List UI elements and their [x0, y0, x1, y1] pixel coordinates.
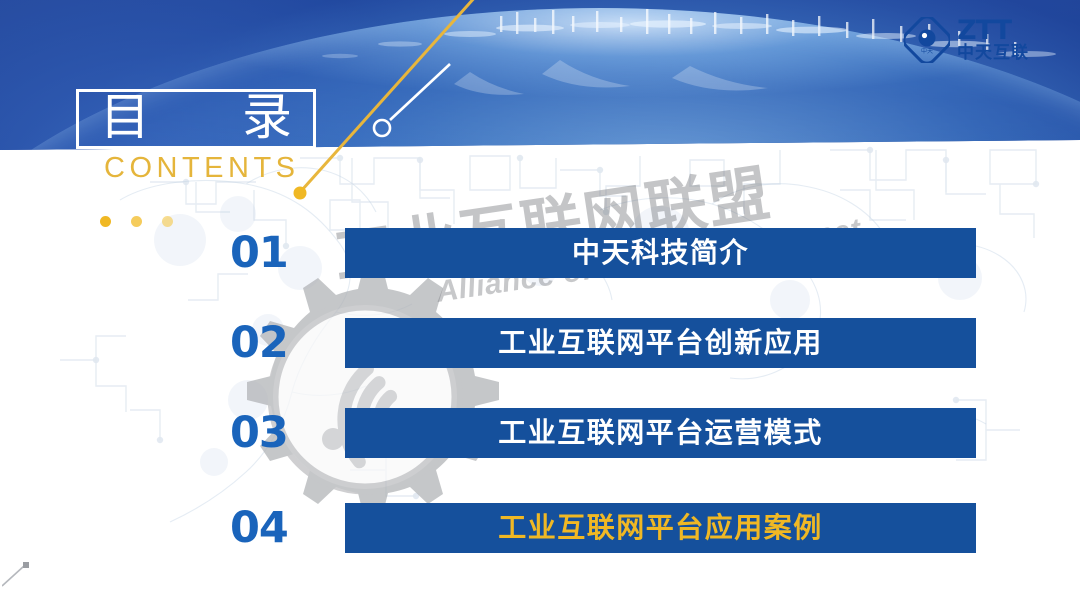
toc-item-03[interactable]: 03 工业互联网平台运营模式: [228, 408, 976, 458]
toc-label-01: 中天科技简介: [572, 239, 749, 267]
presentation-slide: 目 录 CONTENTS 工业互联网联盟: [0, 0, 1080, 608]
toc-item-02[interactable]: 02 工业互联网平台创新应用: [228, 318, 976, 368]
dot-2-icon: [131, 216, 142, 227]
toc-bar-04[interactable]: 工业互联网平台应用案例: [345, 503, 976, 553]
toc-number-02: 02: [228, 322, 345, 365]
toc-bar-03[interactable]: 工业互联网平台运营模式: [345, 408, 976, 458]
ztt-diamond-logo-icon: 中天: [904, 17, 950, 63]
ztt-logo: 中天 ZTT 中天互联: [904, 14, 1058, 66]
toc-label-02: 工业互联网平台创新应用: [498, 329, 823, 357]
toc-label-03: 工业互联网平台运营模式: [498, 419, 823, 447]
svg-text:中天: 中天: [921, 47, 933, 55]
toc-bar-01[interactable]: 中天科技简介: [345, 228, 976, 278]
ztt-logo-cn: 中天互联: [957, 45, 1029, 62]
toc-bar-02[interactable]: 工业互联网平台创新应用: [345, 318, 976, 368]
toc-number-03: 03: [228, 412, 345, 455]
toc-item-01[interactable]: 01 中天科技简介: [228, 228, 976, 278]
corner-marker-icon: [2, 556, 36, 590]
toc-number-04: 04: [228, 507, 345, 550]
ztt-logo-en: ZTT: [957, 18, 1029, 44]
white-pointer-line: [360, 58, 460, 148]
gear-wifi-emblem-icon: [215, 247, 515, 547]
decor-dots: [100, 216, 173, 227]
ztt-logo-text: ZTT 中天互联: [957, 18, 1029, 62]
page-title-char-1: 目: [100, 92, 150, 142]
toc-item-04[interactable]: 04 工业互联网平台应用案例: [228, 503, 976, 553]
toc-number-01: 01: [228, 232, 345, 275]
dot-3-icon: [162, 216, 173, 227]
page-title: 目 录: [78, 80, 314, 154]
page-subtitle: CONTENTS: [104, 152, 300, 185]
toc-label-04: 工业互联网平台应用案例: [498, 514, 823, 542]
dot-1-icon: [100, 216, 111, 227]
